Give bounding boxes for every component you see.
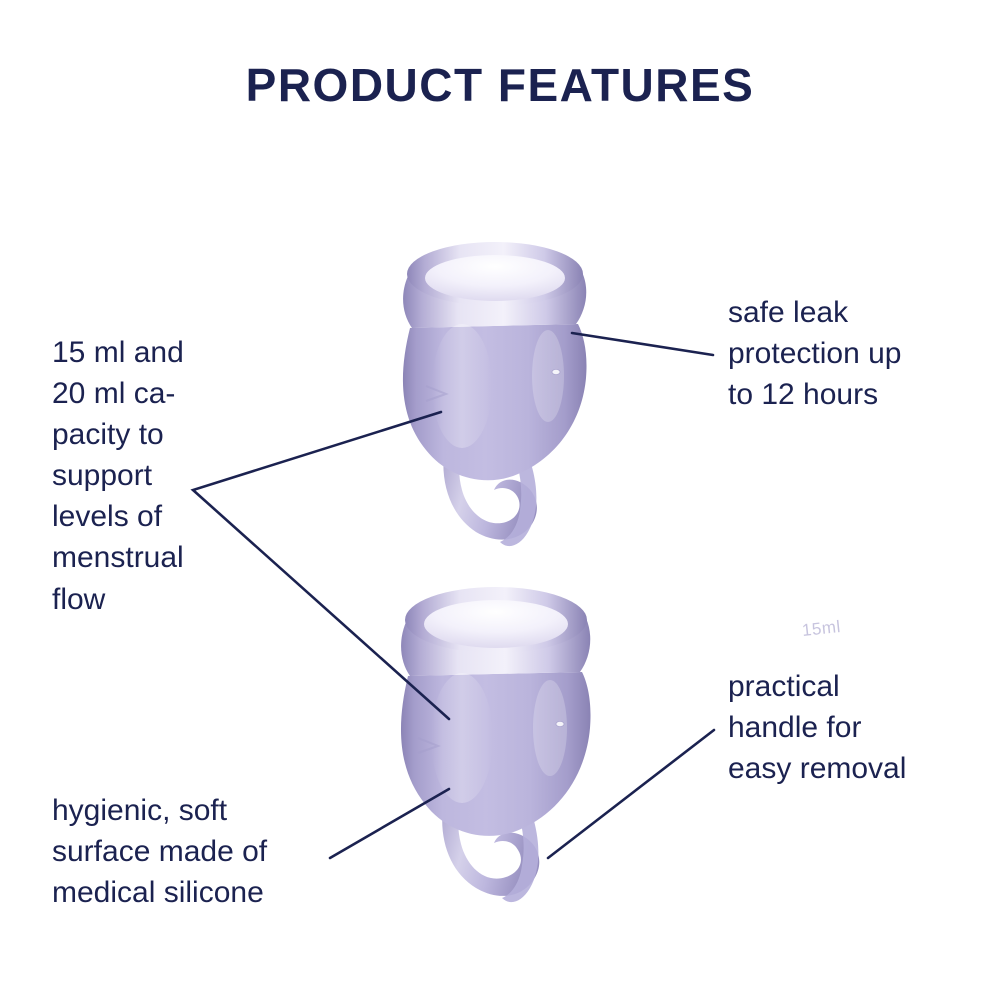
cup-highlight-right-15ml bbox=[532, 330, 564, 422]
product-features-infographic: PRODUCT FEATURES bbox=[0, 0, 1000, 1000]
callout-medical-silicone: hygienic, soft surface made of medical s… bbox=[52, 790, 342, 913]
callout-leak-protection: safe leak protection up to 12 hours bbox=[728, 292, 978, 415]
cup-interior-20ml bbox=[424, 600, 568, 648]
menstrual-cup-20ml: 20ml bbox=[370, 578, 630, 918]
cup-interior-15ml bbox=[425, 255, 565, 301]
menstrual-cup-15ml: 15ml bbox=[370, 236, 630, 566]
volume-marking-15ml: 15ml bbox=[801, 617, 842, 641]
cup-highlight-right-20ml bbox=[533, 680, 567, 776]
cup-highlight-left-20ml bbox=[431, 673, 493, 803]
callout-capacity: 15 ml and 20 ml ca- pacity to support le… bbox=[52, 332, 262, 620]
cup-highlight-left-15ml bbox=[432, 324, 492, 448]
callout-practical-handle: practical handle for easy removal bbox=[728, 666, 978, 789]
